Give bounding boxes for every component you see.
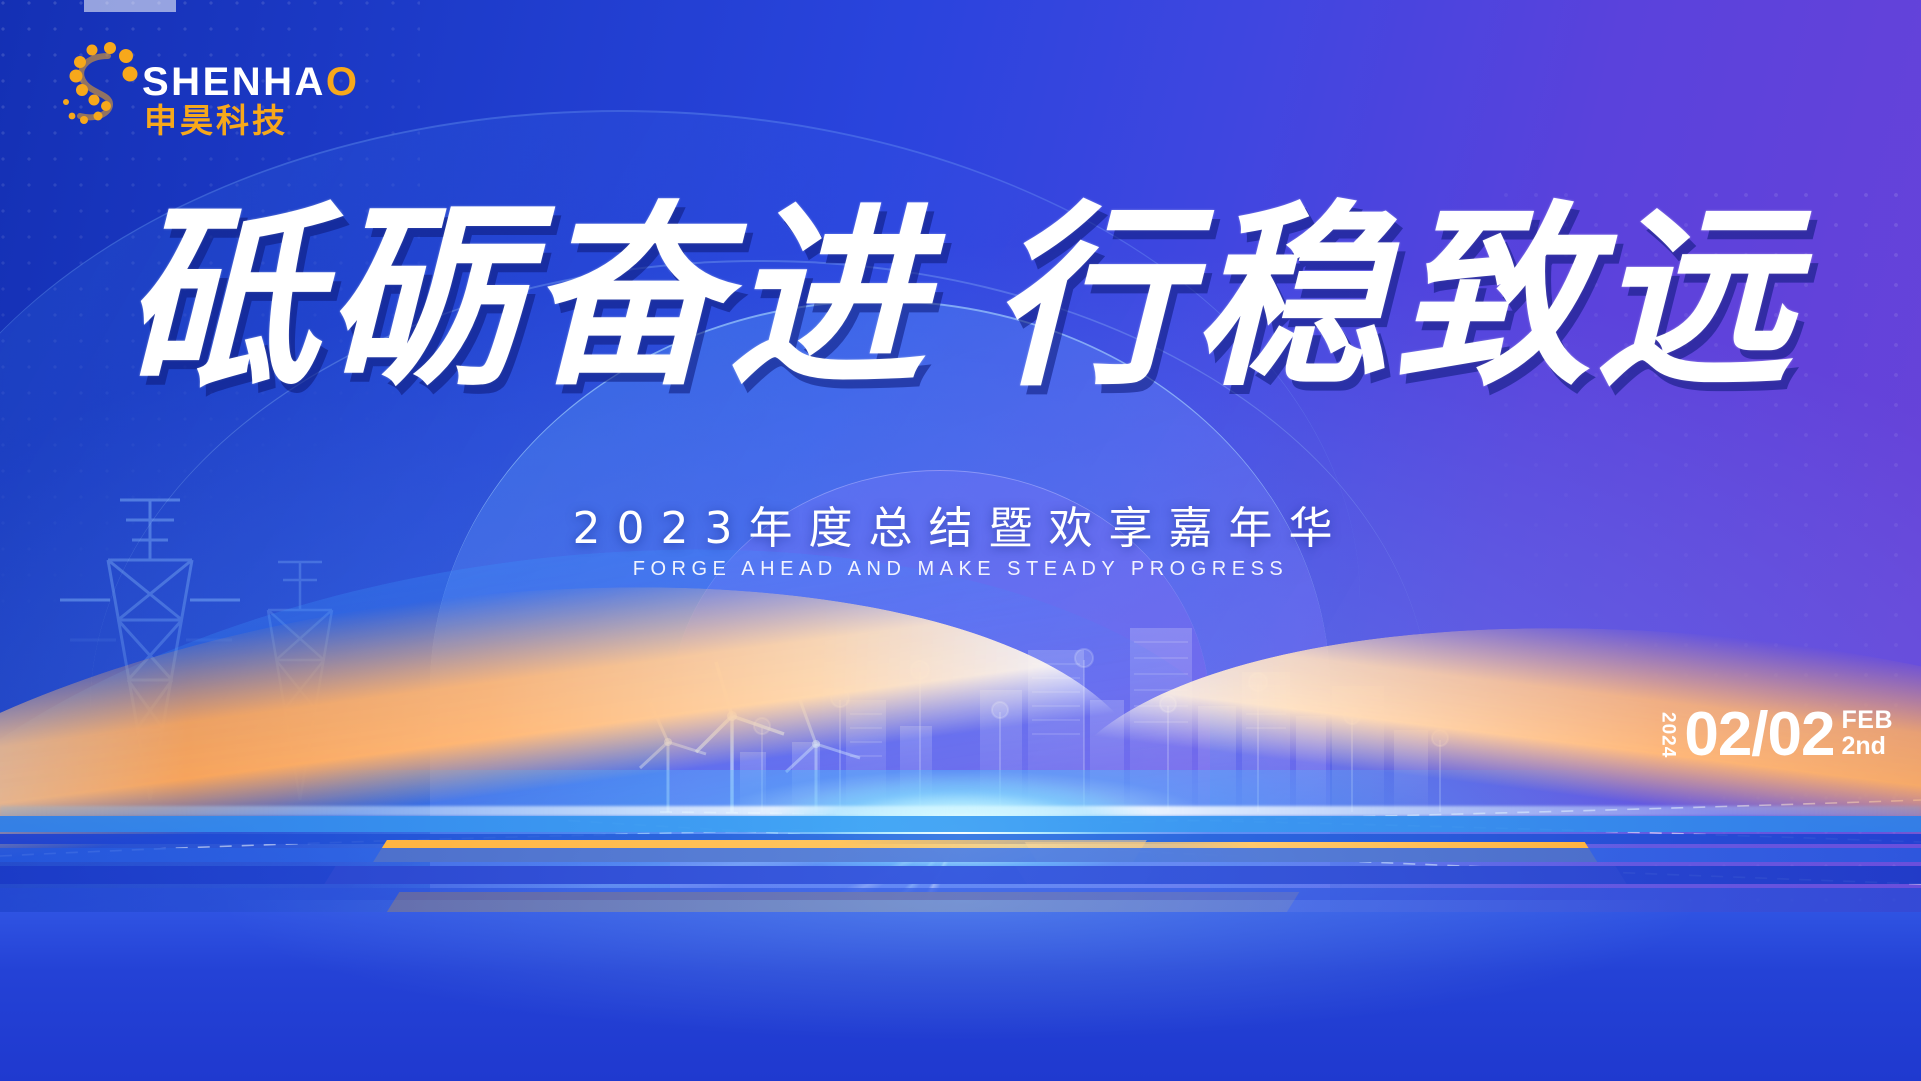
- date-numeric: 02/02: [1684, 707, 1834, 763]
- page-title: 砥砺奋进行稳致远: [0, 200, 1921, 396]
- headline-part-1: 砥砺奋进: [122, 183, 930, 413]
- logo-wordmark-accent: O: [326, 60, 360, 104]
- event-date-badge: 2024 02/02 FEB 2nd: [1656, 707, 1893, 763]
- foreground-glow: [0, 900, 1921, 1081]
- date-side: FEB 2nd: [1842, 708, 1894, 759]
- date-day: 2nd: [1842, 734, 1894, 760]
- top-white-artifact: [84, 0, 176, 12]
- ground-band-1: [0, 816, 1921, 832]
- event-banner: SHENHAO 申昊科技 砥砺奋进行稳致远 2023年度总结暨欢享嘉年华 FOR…: [0, 0, 1921, 1081]
- logo-chinese-name: 申昊科技: [144, 104, 288, 137]
- event-tagline: FORGE AHEAD AND MAKE STEADY PROGRESS: [0, 558, 1921, 581]
- date-month: FEB: [1842, 708, 1894, 734]
- headline-part-2: 行稳致远: [991, 183, 1799, 413]
- ground-band-3: [0, 848, 1921, 862]
- ground-band-4: [0, 866, 1921, 884]
- event-subtitle: 2023年度总结暨欢享嘉年华: [0, 492, 1921, 556]
- company-logo: SHENHAO 申昊科技: [58, 36, 288, 140]
- date-year: 2024: [1656, 712, 1678, 758]
- dotted-spiral-s-icon: [58, 36, 144, 136]
- logo-wordmark-main: SHENHA: [142, 60, 326, 104]
- logo-wordmark: SHENHAO: [142, 62, 360, 102]
